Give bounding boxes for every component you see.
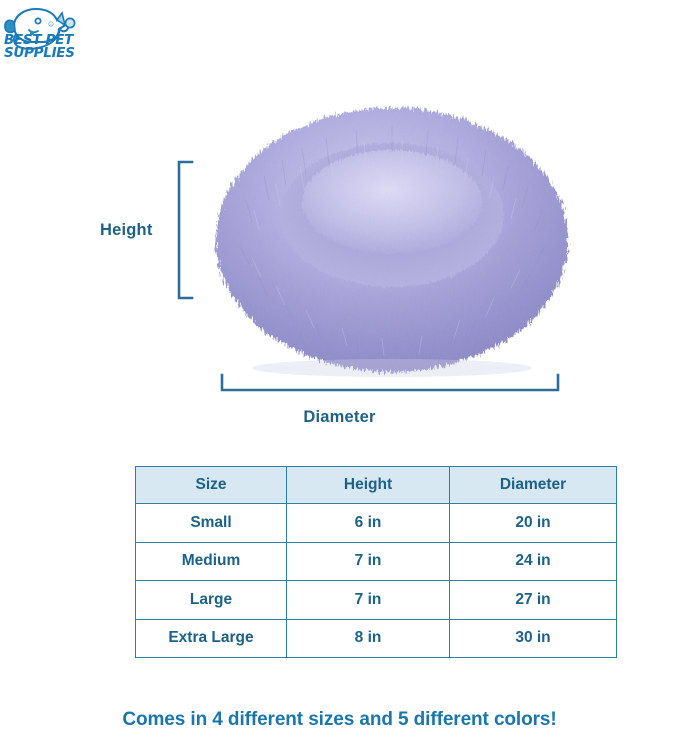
table-row: Small 6 in 20 in	[136, 504, 617, 543]
cell-height: 8 in	[287, 619, 450, 658]
cell-height: 7 in	[287, 542, 450, 581]
table-row: Large 7 in 27 in	[136, 581, 617, 620]
diameter-bracket	[220, 373, 560, 393]
column-header-diameter: Diameter	[450, 467, 617, 504]
diameter-bracket-icon	[220, 373, 560, 393]
cell-diameter: 20 in	[450, 504, 617, 543]
cell-height: 7 in	[287, 581, 450, 620]
table-row: Extra Large 8 in 30 in	[136, 619, 617, 658]
footer-tagline: Comes in 4 different sizes and 5 differe…	[0, 709, 679, 731]
cell-size: Extra Large	[136, 619, 287, 658]
cell-diameter: 30 in	[450, 619, 617, 658]
column-header-size: Size	[136, 467, 287, 504]
height-bracket-icon	[176, 160, 194, 300]
brand-wordmark-line2: SUPPLIES	[4, 47, 84, 60]
cell-diameter: 24 in	[450, 542, 617, 581]
cell-height: 6 in	[287, 504, 450, 543]
table-header-row: Size Height Diameter	[136, 467, 617, 504]
column-header-height: Height	[287, 467, 450, 504]
table-header: Size Height Diameter	[136, 467, 617, 504]
diameter-callout-label: Diameter	[0, 408, 679, 427]
cell-size: Medium	[136, 542, 287, 581]
table-body: Small 6 in 20 in Medium 7 in 24 in Large…	[136, 504, 617, 658]
height-callout-label: Height	[100, 221, 153, 240]
size-chart-table: Size Height Diameter Small 6 in 20 in Me…	[135, 466, 617, 658]
cell-size: Large	[136, 581, 287, 620]
brand-wordmark: BEST PET SUPPLIES	[4, 34, 84, 59]
plush-donut-pet-bed-photo	[206, 80, 578, 380]
cell-diameter: 27 in	[450, 581, 617, 620]
infographic-page: R BEST PET SUPPLIES	[0, 0, 679, 742]
svg-text:R: R	[50, 23, 52, 27]
cell-size: Small	[136, 504, 287, 543]
product-image	[206, 80, 578, 380]
height-bracket	[176, 160, 194, 300]
table-row: Medium 7 in 24 in	[136, 542, 617, 581]
